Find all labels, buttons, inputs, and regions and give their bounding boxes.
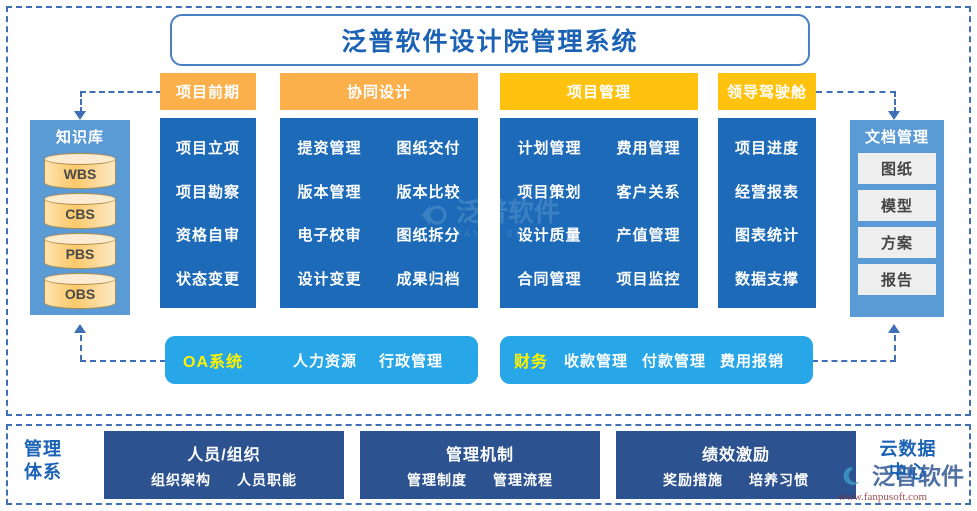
- connector-oa-horizontal: [80, 360, 166, 362]
- bottom-panel-item[interactable]: 管理流程: [493, 470, 553, 490]
- connector-doc-vertical: [894, 91, 896, 113]
- column-panel-executive-cockpit: 项目进度 经营报表 图表统计 数据支撑: [718, 118, 816, 308]
- bottom-right-label-line1: 云数据: [872, 438, 944, 461]
- kb-cylinder-obs[interactable]: OBS: [44, 273, 116, 309]
- panel-cell[interactable]: 客户关系: [599, 181, 698, 202]
- panel-row: 合同管理 项目监控: [500, 257, 698, 301]
- panel-row: 图表统计: [718, 213, 816, 257]
- oa-item-admin[interactable]: 行政管理: [379, 350, 443, 371]
- doc-item-reports[interactable]: 报告: [858, 264, 936, 295]
- panel-cell[interactable]: 合同管理: [500, 268, 599, 289]
- finance-item-receivables[interactable]: 收款管理: [564, 350, 628, 371]
- finance-item-payables[interactable]: 付款管理: [642, 350, 706, 371]
- knowledge-base-list: WBS CBS PBS OBS: [38, 153, 122, 309]
- diagram-canvas: 泛普软件设计院管理系统 知识库 WBS CBS PBS OBS: [0, 0, 977, 511]
- connector-finance-horizontal: [812, 360, 896, 362]
- watermark-url: www.fanpusoft.com: [838, 491, 977, 503]
- panel-cell[interactable]: 成果归档: [379, 268, 478, 289]
- oa-item-hr[interactable]: 人力资源: [293, 350, 357, 371]
- column-header-collaborative-design[interactable]: 协同设计: [280, 73, 478, 110]
- kb-cylinder-label: OBS: [65, 280, 95, 302]
- kb-cylinder-cbs[interactable]: CBS: [44, 193, 116, 229]
- document-management-list: 图纸 模型 方案 报告: [858, 153, 936, 295]
- column-panel-project-management: 计划管理 费用管理 项目策划 客户关系 设计质量 产值管理 合同管理 项目监控: [500, 118, 698, 308]
- connector-kb-arrow: [74, 111, 86, 120]
- kb-cylinder-label: CBS: [65, 200, 95, 222]
- panel-cell[interactable]: 经营报表: [718, 181, 816, 202]
- bottom-panel-personnel[interactable]: 人员/组织 组织架构 人员职能: [104, 431, 344, 499]
- panel-cell[interactable]: 计划管理: [500, 137, 599, 158]
- column-header-executive-cockpit[interactable]: 领导驾驶舱: [718, 73, 816, 110]
- connector-finance-vertical: [894, 335, 896, 361]
- column-header-project-management[interactable]: 项目管理: [500, 73, 698, 110]
- kb-cylinder-pbs[interactable]: PBS: [44, 233, 116, 269]
- column-panel-collaborative-design: 提资管理 图纸交付 版本管理 版本比较 电子校审 图纸拆分 设计变更 成果归档: [280, 118, 478, 308]
- panel-row: 项目进度: [718, 126, 816, 170]
- panel-row: 资格自审: [160, 213, 256, 257]
- panel-row: 项目勘察: [160, 170, 256, 214]
- bottom-panel-item[interactable]: 奖励措施: [663, 470, 723, 490]
- panel-row: 设计质量 产值管理: [500, 213, 698, 257]
- doc-item-models[interactable]: 模型: [858, 190, 936, 221]
- finance-label: 财务: [514, 348, 548, 372]
- panel-cell[interactable]: 设计质量: [500, 224, 599, 245]
- panel-cell[interactable]: 项目进度: [718, 137, 816, 158]
- bottom-panel-mechanism[interactable]: 管理机制 管理制度 管理流程: [360, 431, 600, 499]
- panel-cell[interactable]: 图纸交付: [379, 137, 478, 158]
- doc-item-plans[interactable]: 方案: [858, 227, 936, 258]
- top-section-border: [6, 6, 971, 416]
- bottom-panel-title: 绩效激励: [702, 441, 770, 465]
- oa-system-label: OA系统: [183, 348, 243, 372]
- panel-cell[interactable]: 项目立项: [160, 137, 256, 158]
- panel-row: 项目策划 客户关系: [500, 170, 698, 214]
- connector-finance-arrow: [888, 324, 900, 333]
- bottom-panel-performance[interactable]: 绩效激励 奖励措施 培养习惯: [616, 431, 856, 499]
- document-management-title: 文档管理: [865, 126, 929, 147]
- kb-cylinder-wbs[interactable]: WBS: [44, 153, 116, 189]
- panel-cell[interactable]: 产值管理: [599, 224, 698, 245]
- panel-cell[interactable]: 版本比较: [379, 181, 478, 202]
- panel-cell[interactable]: 数据支撑: [718, 268, 816, 289]
- panel-row: 计划管理 费用管理: [500, 126, 698, 170]
- panel-row: 经营报表: [718, 170, 816, 214]
- panel-cell[interactable]: 项目策划: [500, 181, 599, 202]
- bottom-panel-item[interactable]: 人员职能: [237, 470, 297, 490]
- panel-cell[interactable]: 图纸拆分: [379, 224, 478, 245]
- kb-cylinder-label: WBS: [64, 160, 97, 182]
- doc-item-drawings[interactable]: 图纸: [858, 153, 936, 184]
- knowledge-base-panel[interactable]: 知识库 WBS CBS PBS OBS: [30, 120, 130, 315]
- bottom-panel-title: 人员/组织: [187, 441, 260, 465]
- panel-cell[interactable]: 版本管理: [280, 181, 379, 202]
- panel-cell[interactable]: 设计变更: [280, 268, 379, 289]
- connector-oa-arrow: [74, 324, 86, 333]
- panel-row: 电子校审 图纸拆分: [280, 213, 478, 257]
- panel-cell[interactable]: 项目勘察: [160, 181, 256, 202]
- panel-cell[interactable]: 项目监控: [599, 268, 698, 289]
- oa-system-bar[interactable]: OA系统 人力资源 行政管理: [165, 336, 478, 384]
- connector-doc-arrow: [888, 111, 900, 120]
- connector-doc-horizontal: [816, 91, 896, 93]
- kb-cylinder-label: PBS: [66, 240, 95, 262]
- panel-row: 项目立项: [160, 126, 256, 170]
- knowledge-base-title: 知识库: [56, 126, 104, 147]
- bottom-right-label-line2: 中心: [872, 461, 944, 484]
- bottom-panel-items: 奖励措施 培养习惯: [663, 470, 809, 490]
- connector-kb-vertical: [80, 91, 82, 113]
- panel-cell[interactable]: 费用管理: [599, 137, 698, 158]
- panel-cell[interactable]: 电子校审: [280, 224, 379, 245]
- bottom-panel-items: 组织架构 人员职能: [151, 470, 297, 490]
- panel-row: 数据支撑: [718, 257, 816, 301]
- bottom-left-label-line1: 管理: [12, 438, 74, 461]
- panel-row: 提资管理 图纸交付: [280, 126, 478, 170]
- finance-bar[interactable]: 财务 收款管理 付款管理 费用报销: [500, 336, 813, 384]
- bottom-panel-item[interactable]: 组织架构: [151, 470, 211, 490]
- panel-cell[interactable]: 提资管理: [280, 137, 379, 158]
- panel-cell[interactable]: 状态变更: [160, 268, 256, 289]
- connector-oa-vertical: [80, 335, 82, 361]
- bottom-panel-item[interactable]: 培养习惯: [749, 470, 809, 490]
- document-management-panel[interactable]: 文档管理 图纸 模型 方案 报告: [850, 120, 944, 317]
- column-header-project-preliminary[interactable]: 项目前期: [160, 73, 256, 110]
- bottom-left-label: 管理 体系: [12, 438, 74, 483]
- bottom-right-label: 云数据 中心: [872, 438, 944, 483]
- bottom-panel-item[interactable]: 管理制度: [407, 470, 467, 490]
- page-title: 泛普软件设计院管理系统: [170, 14, 810, 66]
- panel-row: 状态变更: [160, 257, 256, 301]
- finance-item-reimbursement[interactable]: 费用报销: [720, 350, 784, 371]
- panel-cell[interactable]: 资格自审: [160, 224, 256, 245]
- bottom-left-label-line2: 体系: [12, 461, 74, 484]
- bottom-panel-items: 管理制度 管理流程: [407, 470, 553, 490]
- panel-row: 版本管理 版本比较: [280, 170, 478, 214]
- panel-cell[interactable]: 图表统计: [718, 224, 816, 245]
- connector-kb-horizontal: [80, 91, 162, 93]
- bottom-panel-title: 管理机制: [446, 441, 514, 465]
- panel-row: 设计变更 成果归档: [280, 257, 478, 301]
- column-panel-project-preliminary: 项目立项 项目勘察 资格自审 状态变更: [160, 118, 256, 308]
